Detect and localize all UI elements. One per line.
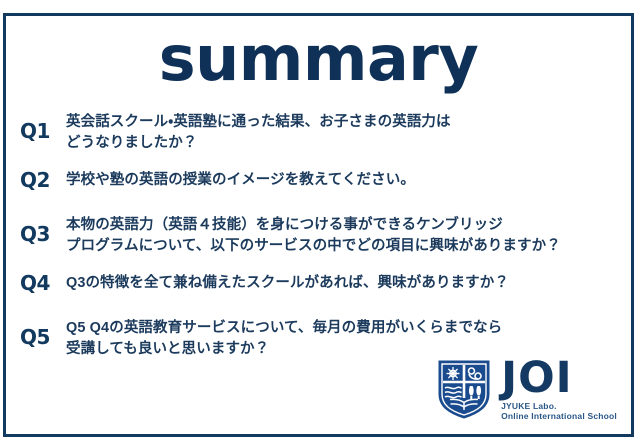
question-text-line: どうなりましたか？ xyxy=(66,133,621,154)
question-text-line: 英会話スクール・英語塾に通った結果、お子さまの英語力は xyxy=(66,112,621,133)
shield-crest-icon xyxy=(436,358,492,420)
question-list: Q1 英会話スクール・英語塾に通った結果、お子さまの英語力は どうなりましたか？… xyxy=(20,112,621,376)
question-number-q2: Q2 xyxy=(20,170,66,190)
question-text-q1: 英会話スクール・英語塾に通った結果、お子さまの英語力は どうなりましたか？ xyxy=(66,112,621,154)
question-text-q3: 本物の英語力（英語４技能）を身につける事ができるケンブリッジ プログラムについて… xyxy=(66,215,621,257)
joi-logo: JOI JYUKE Labo. Online International Sch… xyxy=(436,358,617,422)
summary-slide: summary Q1 英会話スクール・英語塾に通った結果、お子さまの英語力は ど… xyxy=(3,13,634,437)
question-text-line: 学校や塾の英語の授業のイメージを教えてください。 xyxy=(66,170,621,191)
question-number-q1: Q1 xyxy=(20,112,66,141)
question-text-line: 本物の英語力（英語４技能）を身につける事ができるケンブリッジ xyxy=(66,215,621,236)
question-row: Q2 学校や塾の英語の授業のイメージを教えてください。 xyxy=(20,170,621,191)
logo-tagline-line2: Online International School xyxy=(501,411,617,422)
question-text-q2: 学校や塾の英語の授業のイメージを教えてください。 xyxy=(66,170,621,191)
question-text-line: Q3の特徴を全て兼ね備えたスクールがあれば、興味がありますか？ xyxy=(66,273,621,294)
logo-text-block: JOI JYUKE Labo. Online International Sch… xyxy=(501,358,617,422)
question-row: Q3 本物の英語力（英語４技能）を身につける事ができるケンブリッジ プログラムに… xyxy=(20,215,621,257)
question-row: Q4 Q3の特徴を全て兼ね備えたスクールがあれば、興味がありますか？ xyxy=(20,273,621,294)
question-number-q3: Q3 xyxy=(20,215,66,244)
question-text-line: Q5 Q4の英語教育サービスについて、毎月の費用がいくらまでなら xyxy=(66,318,621,339)
question-number-q4: Q4 xyxy=(20,273,66,293)
question-row: Q1 英会話スクール・英語塾に通った結果、お子さまの英語力は どうなりましたか？ xyxy=(20,112,621,154)
page-title: summary xyxy=(6,26,631,91)
question-text-q4: Q3の特徴を全て兼ね備えたスクールがあれば、興味がありますか？ xyxy=(66,273,621,294)
question-number-q5: Q5 xyxy=(20,318,66,347)
logo-wordmark: JOI xyxy=(501,358,617,399)
question-text-line: プログラムについて、以下のサービスの中でどの項目に興味がありますか？ xyxy=(66,236,621,257)
